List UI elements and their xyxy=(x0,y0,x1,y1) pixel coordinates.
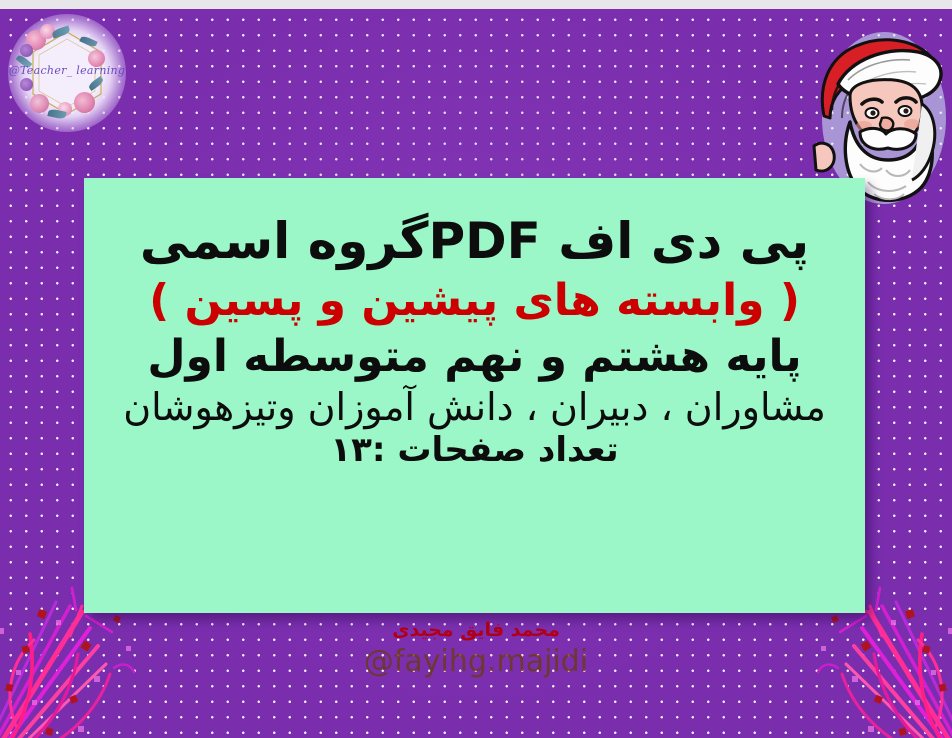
flower-petal xyxy=(20,78,33,91)
teacher-learning-logo: @Teacher_ learning xyxy=(8,14,126,132)
grade-level-line: پایه هشتم و نهم متوسطه اول xyxy=(84,331,865,383)
logo-handle-text: @Teacher_ learning xyxy=(8,64,126,77)
content-panel: پی دی اف PDFگروه اسمی ( وابسته های پیشین… xyxy=(84,178,865,613)
page-count-line: تعداد صفحات :۱۳ xyxy=(84,430,865,470)
title-line-2-highlight: ( وابسته های پیشین و پسین ) xyxy=(84,275,865,327)
poster-canvas: @Teacher_ learning xyxy=(0,0,952,738)
top-strip xyxy=(0,0,952,9)
flower-petal xyxy=(74,92,95,113)
audience-line: مشاوران ، دبیران ، دانش آموزان وتیزهوشان xyxy=(84,385,865,430)
flower-petal xyxy=(30,94,49,113)
title-line-1: پی دی اف PDFگروه اسمی xyxy=(84,212,865,271)
